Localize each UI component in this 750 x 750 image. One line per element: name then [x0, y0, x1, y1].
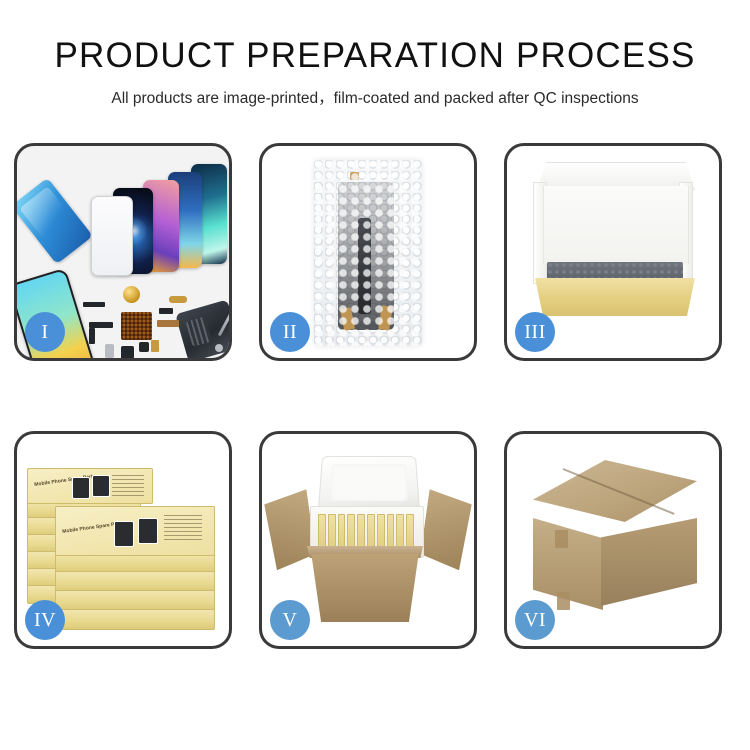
box-edge	[55, 590, 215, 611]
process-steps-grid: I II III	[14, 143, 736, 649]
part-screw	[215, 344, 223, 352]
retail-box-rear-top: Mobile Phone Spare Parts	[27, 468, 153, 504]
page-header: PRODUCT PREPARATION PROCESS All products…	[0, 0, 750, 108]
step-badge-3: III	[515, 312, 555, 352]
step-badge-1: I	[25, 312, 65, 352]
step-badge-6: VI	[515, 600, 555, 640]
box-window-left	[114, 521, 134, 547]
yellow-box-base	[535, 278, 695, 316]
clear-tempered-glass-screen-protector	[91, 196, 133, 276]
box-window-right	[138, 518, 158, 544]
blue-protective-film-sheet	[17, 178, 93, 265]
part-gold-bracket	[169, 296, 187, 303]
part-vibrator	[139, 342, 149, 352]
spare-parts-flatlay	[77, 286, 229, 358]
part-camera-module	[105, 344, 114, 358]
step-card-3: III	[504, 143, 722, 361]
step-card-1: I	[14, 143, 232, 361]
part-gold-contact	[151, 340, 159, 352]
packing-tape	[555, 530, 568, 548]
box-spec-lines	[112, 475, 144, 497]
gold-coin-component	[123, 286, 140, 303]
page-title: PRODUCT PREPARATION PROCESS	[0, 38, 750, 75]
carton-flap-right	[419, 489, 473, 570]
part-copper-flex	[157, 320, 179, 327]
page-subtitle: All products are image-printed，film-coat…	[0, 86, 750, 108]
step-badge-2: II	[270, 312, 310, 352]
bubble-wrap-bag	[314, 160, 422, 346]
step-card-4: Mobile Phone Spare Parts Mobile Phone Sp…	[14, 431, 232, 649]
bubble-texture-overlay	[314, 160, 422, 346]
step-card-2: II	[259, 143, 477, 361]
step-card-5: V	[259, 431, 477, 649]
retail-box-front-top: Mobile Phone Spare Parts	[55, 506, 215, 556]
box-window-right	[92, 475, 110, 497]
part-small-flex	[159, 308, 173, 314]
part-speaker	[121, 346, 134, 358]
part-connector-strip	[83, 302, 105, 307]
step-card-6: VI	[504, 431, 722, 649]
part-cable-b	[89, 328, 95, 344]
box-edge	[55, 609, 215, 630]
kraft-carton	[304, 554, 426, 622]
packing-tape	[557, 592, 570, 610]
step-badge-5: V	[270, 600, 310, 640]
carton-right-face	[601, 518, 697, 606]
white-box-interior	[543, 186, 689, 264]
step-badge-4: IV	[25, 600, 65, 640]
white-foam-lid	[318, 456, 420, 512]
box-spec-lines	[164, 515, 202, 543]
copper-mesh-shield	[121, 312, 152, 340]
box-edge	[55, 571, 215, 592]
carton-flap-left	[263, 489, 317, 570]
box-window-left	[72, 477, 90, 499]
